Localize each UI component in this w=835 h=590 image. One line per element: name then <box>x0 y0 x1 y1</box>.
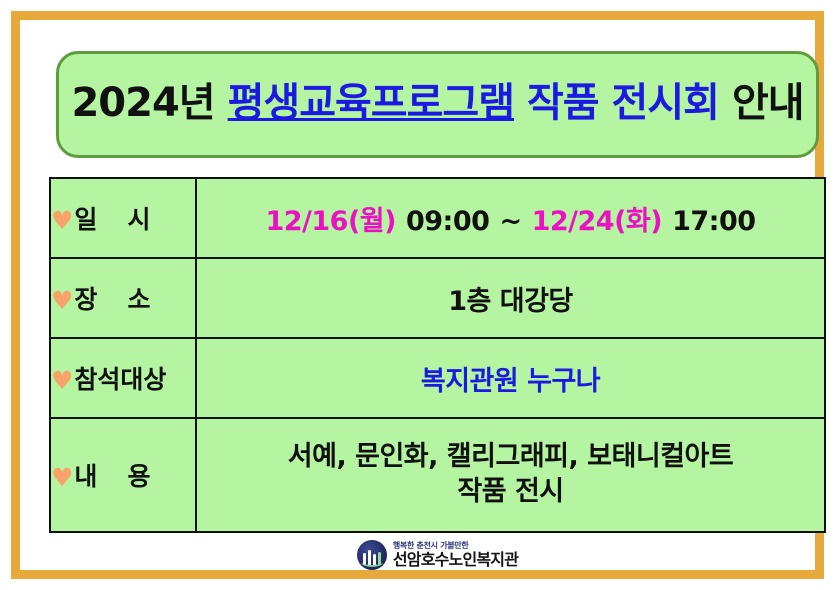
value-audience: 복지관원 누구나 <box>421 366 600 397</box>
label-content-b: 용 <box>127 462 150 491</box>
poster-canvas: 2024년평생교육프로그램작품 전시회안내 ♥일시 12/16(월)09:00~… <box>0 0 835 590</box>
value-place: 1층 대강당 <box>448 286 573 317</box>
title-banner: 2024년평생교육프로그램작품 전시회안내 <box>56 51 819 158</box>
title-subject: 작품 전시회 <box>527 80 719 126</box>
value-date-end: 12/24(화) <box>532 206 663 237</box>
table-row: ♥참석대상 복지관원 누구나 <box>50 338 825 418</box>
label-content-a: 내 <box>74 462 97 491</box>
heart-icon: ♥ <box>51 366 73 395</box>
title-year: 2024년 <box>71 80 214 126</box>
value-content-line1: 서예, 문인화, 캘리그래피, 보태니컬아트 <box>197 440 824 475</box>
label-cell-audience: ♥참석대상 <box>50 338 196 418</box>
title-suffix: 안내 <box>732 80 804 126</box>
emblem-swoosh <box>361 558 383 567</box>
table-row: ♥일시 12/16(월)09:00~12/24(화)17:00 <box>50 178 825 258</box>
logo-slogan: 행복한 춘천시 가볼만한 <box>393 542 469 550</box>
title-program: 평생교육프로그램 <box>228 80 514 126</box>
value-range-tilde: ~ <box>499 206 521 237</box>
heart-icon: ♥ <box>51 206 73 235</box>
organization-name: 선암호수노인복지관 <box>393 552 518 568</box>
poster-orange-frame: 2024년평생교육프로그램작품 전시회안내 ♥일시 12/16(월)09:00~… <box>11 11 824 579</box>
label-cell-content: ♥내용 <box>50 418 196 532</box>
table-row: ♥장소 1층 대강당 <box>50 258 825 338</box>
label-cell-date: ♥일시 <box>50 178 196 258</box>
heart-icon: ♥ <box>51 463 73 492</box>
value-cell-content: 서예, 문인화, 캘리그래피, 보태니컬아트작품 전시 <box>196 418 825 532</box>
label-date-a: 일 <box>74 205 97 234</box>
label-cell-place: ♥장소 <box>50 258 196 338</box>
label-place-b: 소 <box>127 285 150 314</box>
label-audience: 참석대상 <box>74 365 166 394</box>
value-time-end: 17:00 <box>672 206 755 237</box>
info-table: ♥일시 12/16(월)09:00~12/24(화)17:00 ♥장소 1층 대… <box>49 177 826 533</box>
value-cell-date: 12/16(월)09:00~12/24(화)17:00 <box>196 178 825 258</box>
label-place-a: 장 <box>74 285 97 314</box>
label-date-b: 시 <box>127 205 150 234</box>
value-cell-place: 1층 대강당 <box>196 258 825 338</box>
value-content-line2: 작품 전시 <box>197 475 824 510</box>
value-cell-audience: 복지관원 누구나 <box>196 338 825 418</box>
organization-emblem-icon <box>357 540 387 570</box>
logo-text-block: 행복한 춘천시 가볼만한 선암호수노인복지관 <box>393 542 518 568</box>
value-date-start: 12/16(월) <box>265 206 396 237</box>
page-title: 2024년평생교육프로그램작품 전시회안내 <box>71 83 803 126</box>
footer-logo: 행복한 춘천시 가볼만한 선암호수노인복지관 <box>20 540 835 570</box>
table-row: ♥내용 서예, 문인화, 캘리그래피, 보태니컬아트작품 전시 <box>50 418 825 532</box>
value-time-start: 09:00 <box>406 206 489 237</box>
heart-icon: ♥ <box>51 286 73 315</box>
